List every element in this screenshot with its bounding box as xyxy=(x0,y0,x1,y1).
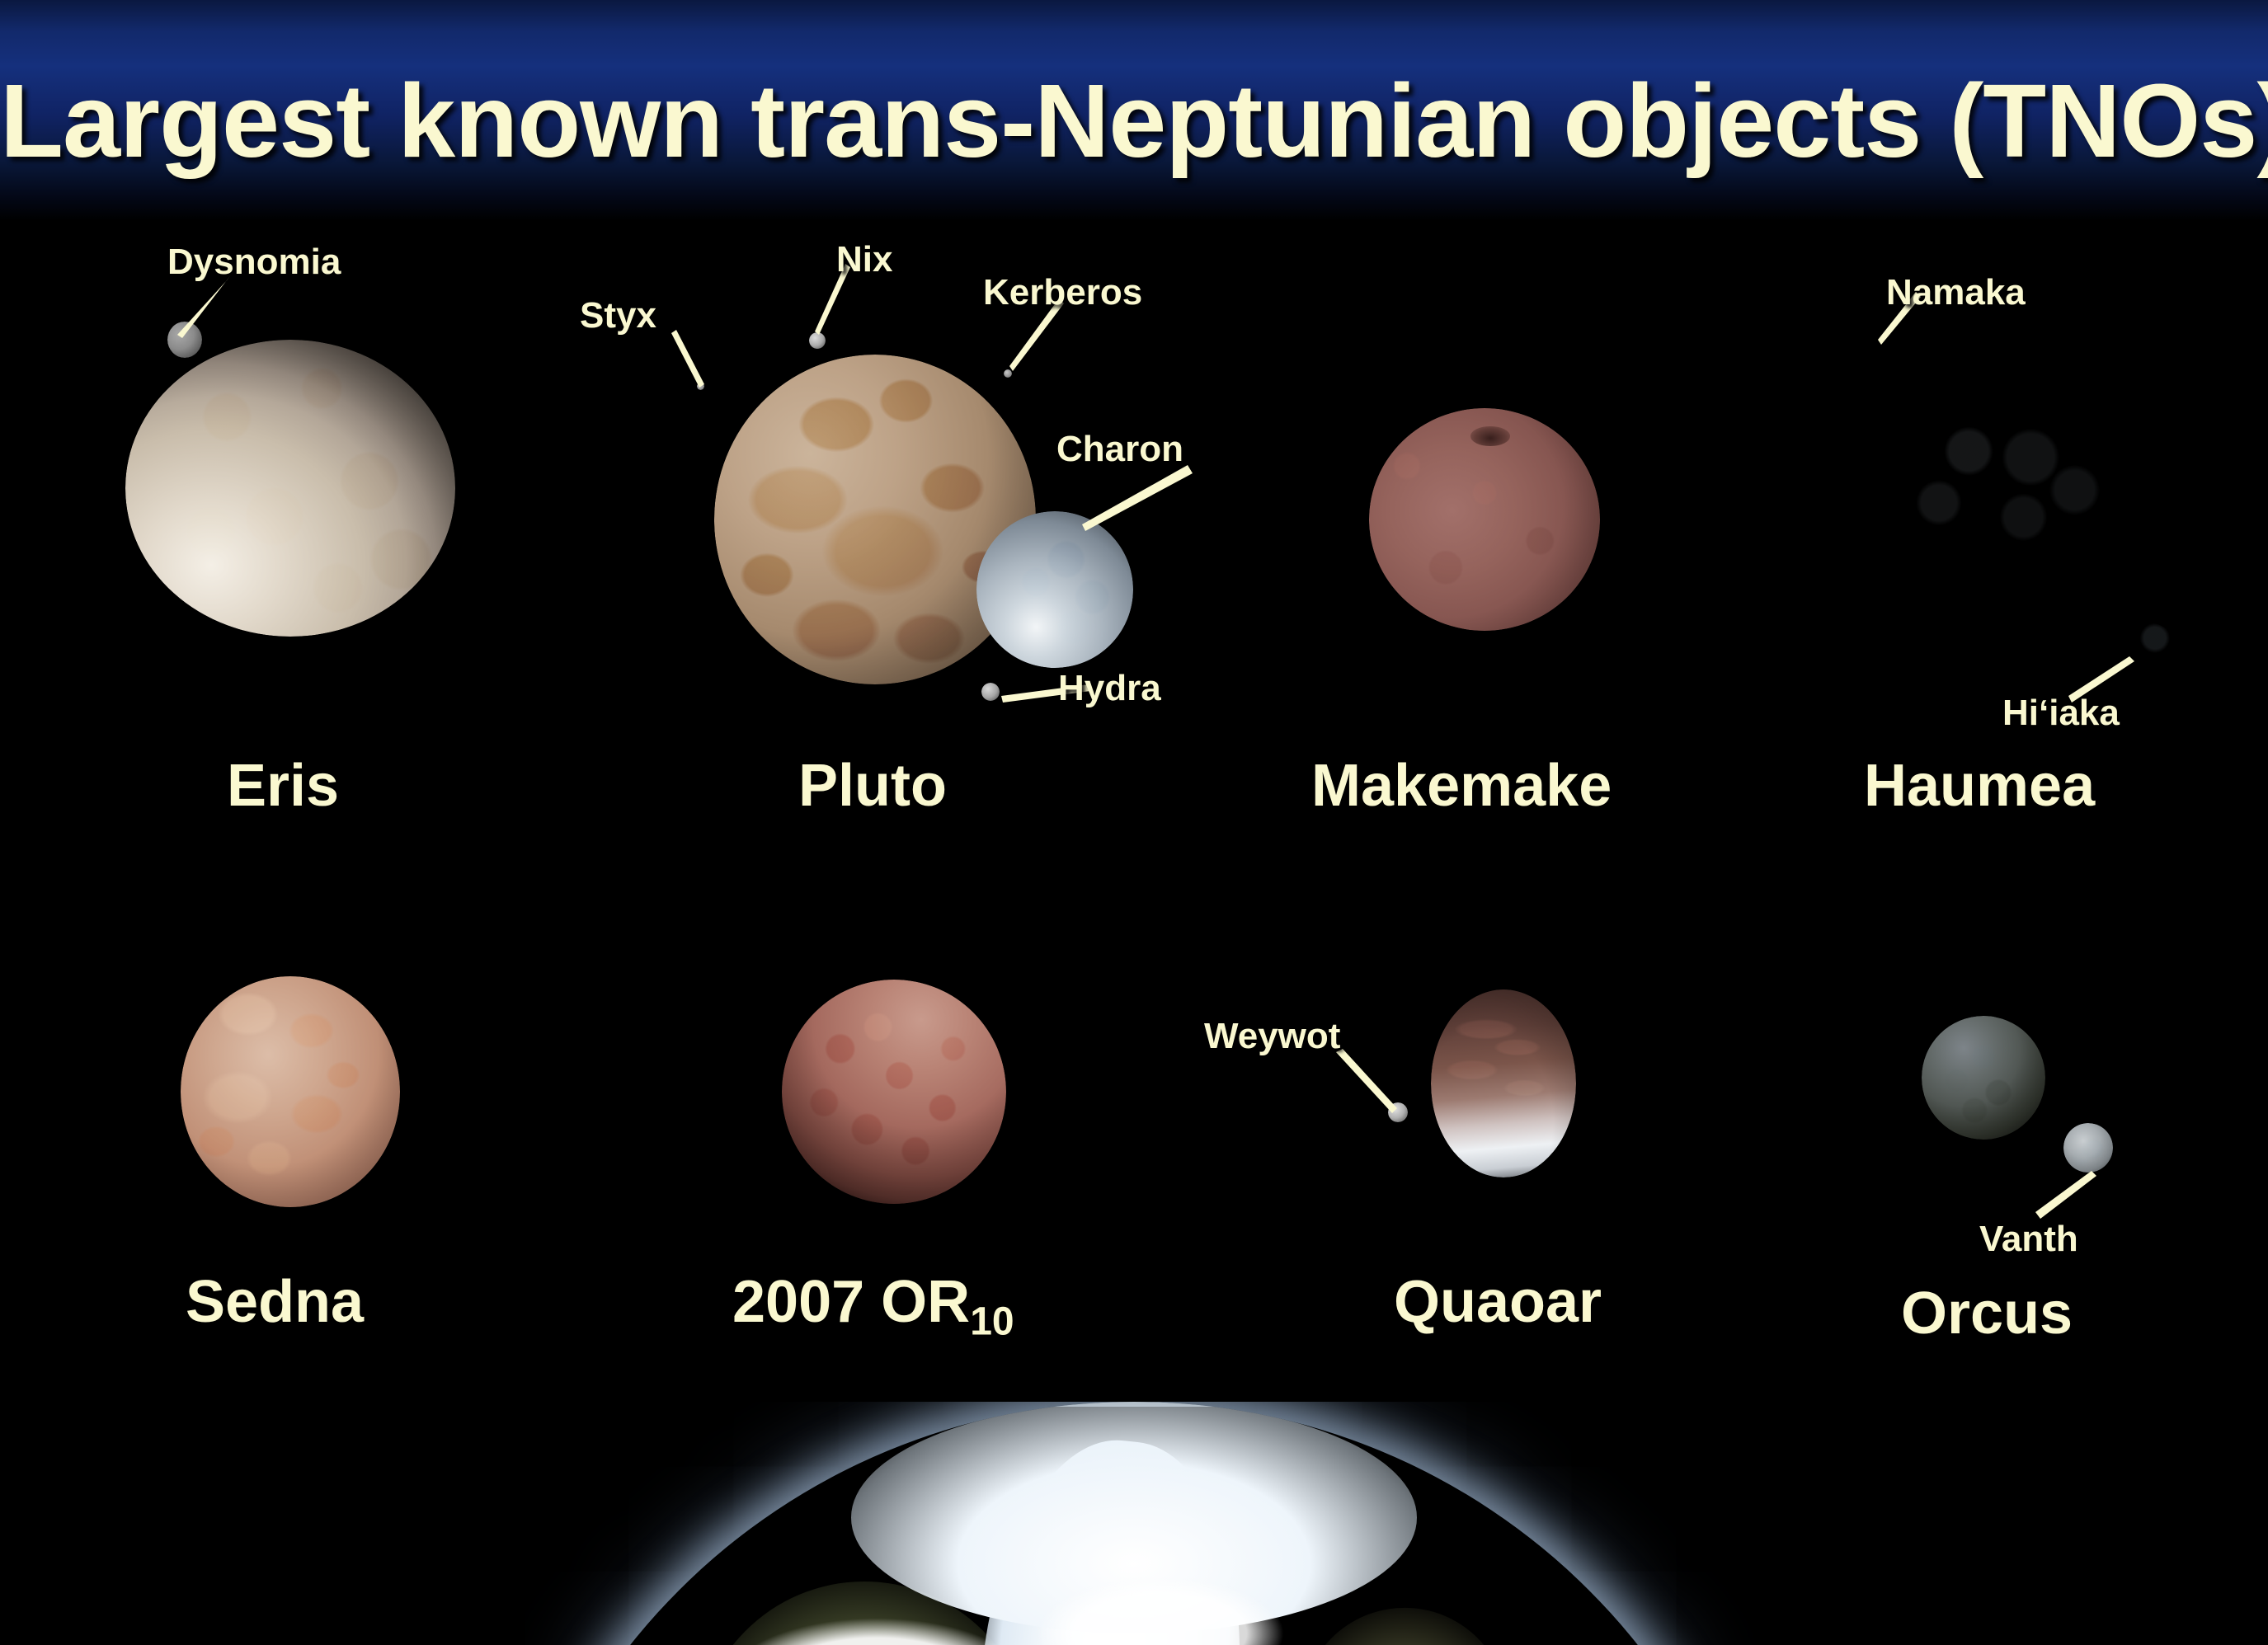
sedna-limb-shadow xyxy=(181,976,400,1207)
moon-label-vanth: Vanth xyxy=(1979,1219,2078,1260)
planet-label-sedna: Sedna xyxy=(186,1268,364,1336)
moon-label-namaka: Namaka xyxy=(1886,272,2026,313)
moon-label-dysnomia: Dysnomia xyxy=(167,242,341,283)
leader-line-weywot xyxy=(1326,1049,1417,1123)
moon-vanth xyxy=(2063,1123,2113,1173)
planet-label-eris: Eris xyxy=(227,752,339,820)
planet-label-quaoar: Quaoar xyxy=(1394,1268,1602,1336)
planet-label-makemake: Makemake xyxy=(1311,752,1612,820)
orcus-limb-shadow xyxy=(1922,1016,2045,1140)
or10-limb-shadow xyxy=(782,980,1006,1204)
eris-limb-shadow xyxy=(125,340,455,637)
infographic-canvas: Largest known trans-Neptunian objects (T… xyxy=(0,0,2268,1645)
body-earth xyxy=(491,1402,1777,1645)
page-title: Largest known trans-Neptunian objects (T… xyxy=(0,61,2268,181)
body-sedna xyxy=(181,976,400,1207)
earth-clouds xyxy=(491,1402,1777,1645)
earth-region xyxy=(491,1402,1777,1645)
moon-label-hydra: Hydra xyxy=(1058,668,1161,709)
leader-line-charon xyxy=(1047,462,1229,561)
moon-label-weywot: Weywot xyxy=(1204,1016,1340,1057)
body-or10 xyxy=(782,980,1006,1204)
planet-label-orcus: Orcus xyxy=(1901,1280,2073,1347)
moon-label-nix: Nix xyxy=(836,239,892,280)
body-makemake xyxy=(1369,408,1600,631)
haumea-mottle xyxy=(1834,362,2149,642)
quaoar-limb-shadow xyxy=(1431,989,1576,1177)
moon-label-charon: Charon xyxy=(1056,429,1183,470)
body-haumea xyxy=(1834,362,2149,642)
leader-line-dysnomia xyxy=(161,272,309,363)
leader-line-styx xyxy=(652,330,751,412)
moon-label-styx: Styx xyxy=(580,295,656,336)
or10-label-main: 2007 OR xyxy=(732,1269,970,1335)
planet-label-or10: 2007 OR10 xyxy=(732,1268,1014,1344)
moon-label-hiiaka: Hi‘iaka xyxy=(2002,693,2120,734)
planet-label-pluto: Pluto xyxy=(798,752,947,820)
body-eris xyxy=(125,340,455,637)
makemake-limb-shadow xyxy=(1369,408,1600,631)
moon-label-kerberos: Kerberos xyxy=(983,272,1142,313)
header-banner: Largest known trans-Neptunian objects (T… xyxy=(0,0,2268,221)
planet-label-haumea: Haumea xyxy=(1864,752,2095,820)
body-quaoar xyxy=(1431,989,1576,1177)
vanth-mottle xyxy=(2063,1123,2113,1173)
or10-label-subscript: 10 xyxy=(970,1300,1014,1343)
body-orcus xyxy=(1922,1016,2045,1140)
